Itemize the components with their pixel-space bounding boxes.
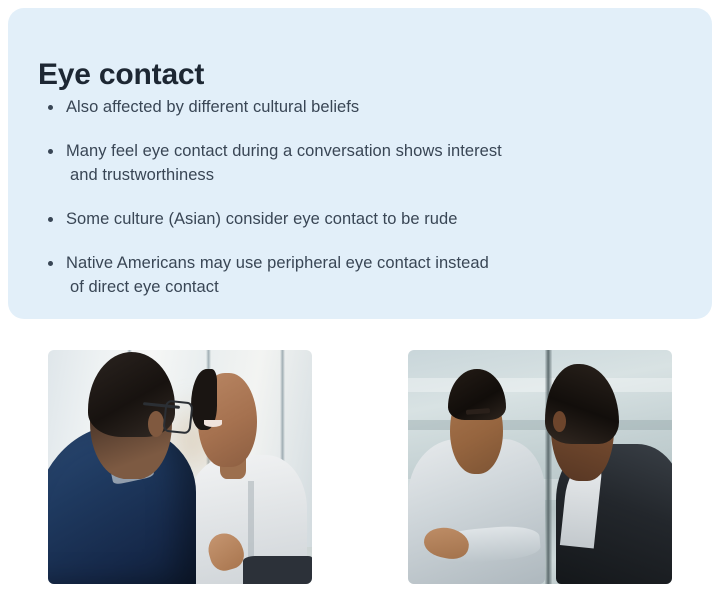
list-item: Also affected by different cultural beli… <box>38 96 688 120</box>
building-band <box>408 378 672 392</box>
list-item-text-line2: and trustworthiness <box>66 164 688 188</box>
man-ear <box>148 411 164 437</box>
list-item: Many feel eye contact during a conversat… <box>38 140 688 188</box>
slide-card: Eye contact Also affected by different c… <box>8 8 712 319</box>
photo-office-conversation <box>48 350 312 584</box>
bullet-dot-icon <box>48 105 53 110</box>
list-item: Native Americans may use peripheral eye … <box>38 252 688 300</box>
woman-lap <box>243 556 312 584</box>
list-item-text-line2: of direct eye contact <box>66 276 688 300</box>
bullet-dot-icon <box>48 261 53 266</box>
bullet-dot-icon <box>48 217 53 222</box>
man2-hair <box>545 364 619 444</box>
bullet-list: Also affected by different cultural beli… <box>38 96 688 300</box>
list-item-text: Some culture (Asian) consider eye contac… <box>66 210 457 228</box>
page-title: Eye contact <box>38 58 204 91</box>
building-band <box>408 420 672 429</box>
list-item-text: Native Americans may use peripheral eye … <box>66 254 489 272</box>
photo-row <box>8 334 712 600</box>
list-item: Some culture (Asian) consider eye contac… <box>38 208 688 232</box>
list-item-text: Many feel eye contact during a conversat… <box>66 142 502 160</box>
list-item-text: Also affected by different cultural beli… <box>66 98 359 116</box>
photo-two-men-conversation <box>408 350 672 584</box>
bullet-dot-icon <box>48 149 53 154</box>
glasses-lens-icon <box>163 400 194 435</box>
